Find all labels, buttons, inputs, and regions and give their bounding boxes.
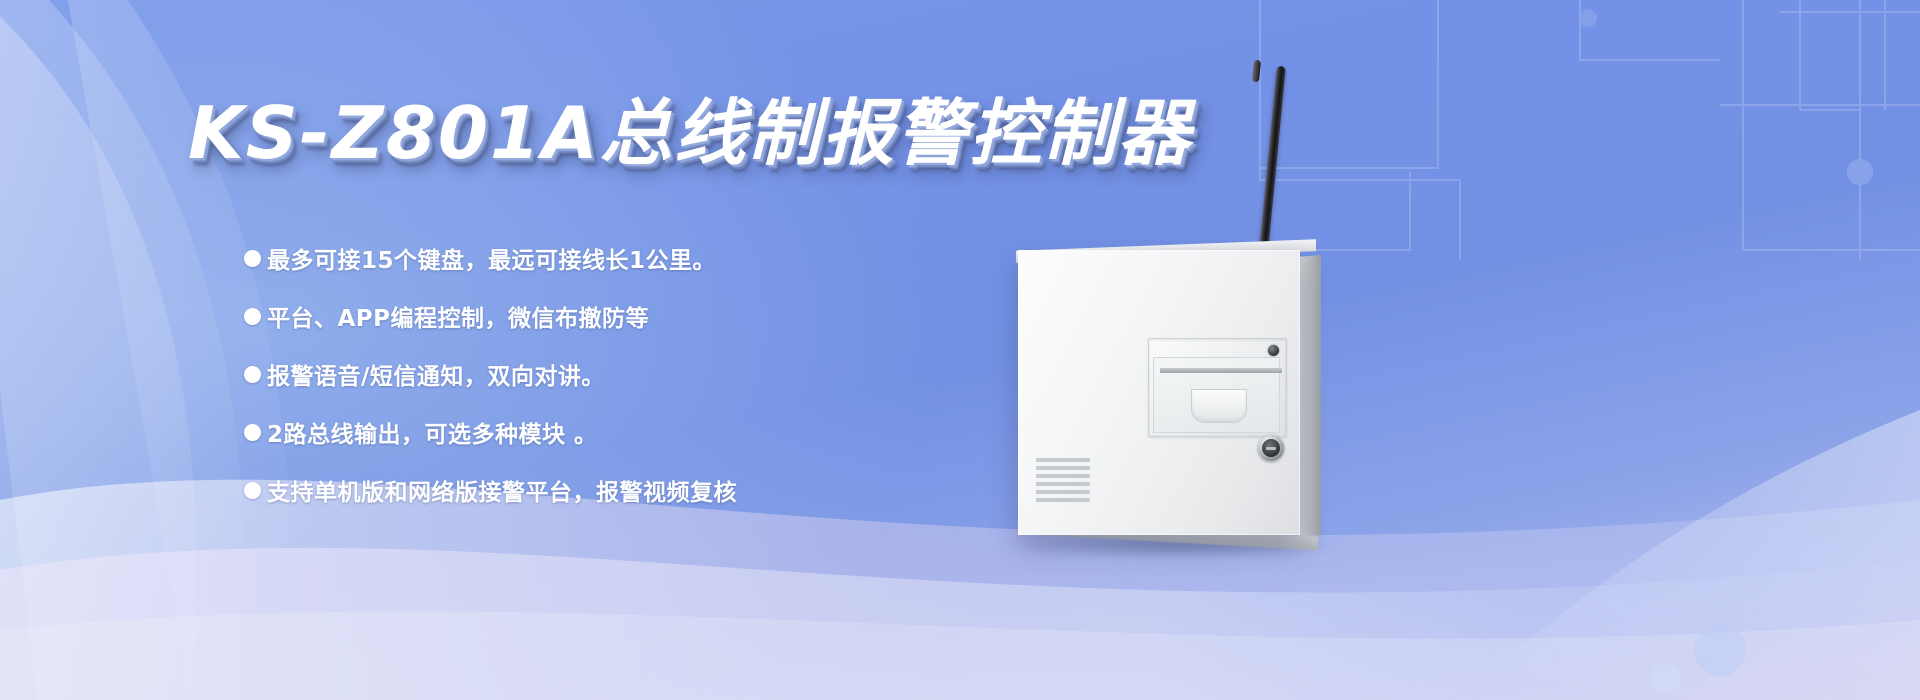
list-item: 平台、APP编程控制，微信布撤防等 xyxy=(244,294,1064,338)
keypad-slot xyxy=(1160,368,1282,373)
list-item: 报警语音/短信通知，双向对讲。 xyxy=(244,352,1064,396)
bullet-icon xyxy=(244,366,261,383)
feature-text: 平台、APP编程控制，微信布撤防等 xyxy=(267,299,649,333)
lock-core xyxy=(1262,439,1280,457)
feature-list: 最多可接15个键盘，最远可接线长1公里。 平台、APP编程控制，微信布撤防等 报… xyxy=(244,236,1064,526)
list-item: 2路总线输出，可选多种模块 。 xyxy=(244,410,1064,454)
bullet-icon xyxy=(244,424,261,441)
keypad-window xyxy=(1148,338,1287,437)
vent-slat xyxy=(1036,466,1090,470)
vent-slat xyxy=(1036,458,1090,462)
bullet-icon xyxy=(244,250,261,267)
antenna-tip-icon xyxy=(1252,60,1261,83)
lock-keyway xyxy=(1266,447,1276,450)
keypad-inner-panel xyxy=(1153,357,1280,433)
vent-slat xyxy=(1036,490,1090,494)
door-handle-icon xyxy=(1191,389,1247,423)
product-image-alarm-control-panel xyxy=(1000,60,1500,580)
feature-text: 最多可接15个键盘，最远可接线长1公里。 xyxy=(267,241,716,275)
feature-text: 2路总线输出，可选多种模块 。 xyxy=(267,415,598,449)
enclosure-side-panel xyxy=(1297,255,1321,537)
ventilation-louvers xyxy=(1036,458,1090,506)
key-lock-icon xyxy=(1258,435,1284,461)
product-banner: KS-Z801A总线制报警控制器 最多可接15个键盘，最远可接线长1公里。 平台… xyxy=(0,0,1920,700)
list-item: 最多可接15个键盘，最远可接线长1公里。 xyxy=(244,236,1064,280)
vent-slat xyxy=(1036,498,1090,502)
indicator-led-icon xyxy=(1268,345,1279,356)
list-item: 支持单机版和网络版接警平台，报警视频复核 xyxy=(244,468,1064,512)
bullet-icon xyxy=(244,308,261,325)
vent-slat xyxy=(1036,474,1090,478)
feature-text: 报警语音/短信通知，双向对讲。 xyxy=(267,357,605,391)
bullet-icon xyxy=(244,482,261,499)
vent-slat xyxy=(1036,482,1090,486)
feature-text: 支持单机版和网络版接警平台，报警视频复核 xyxy=(267,473,737,507)
